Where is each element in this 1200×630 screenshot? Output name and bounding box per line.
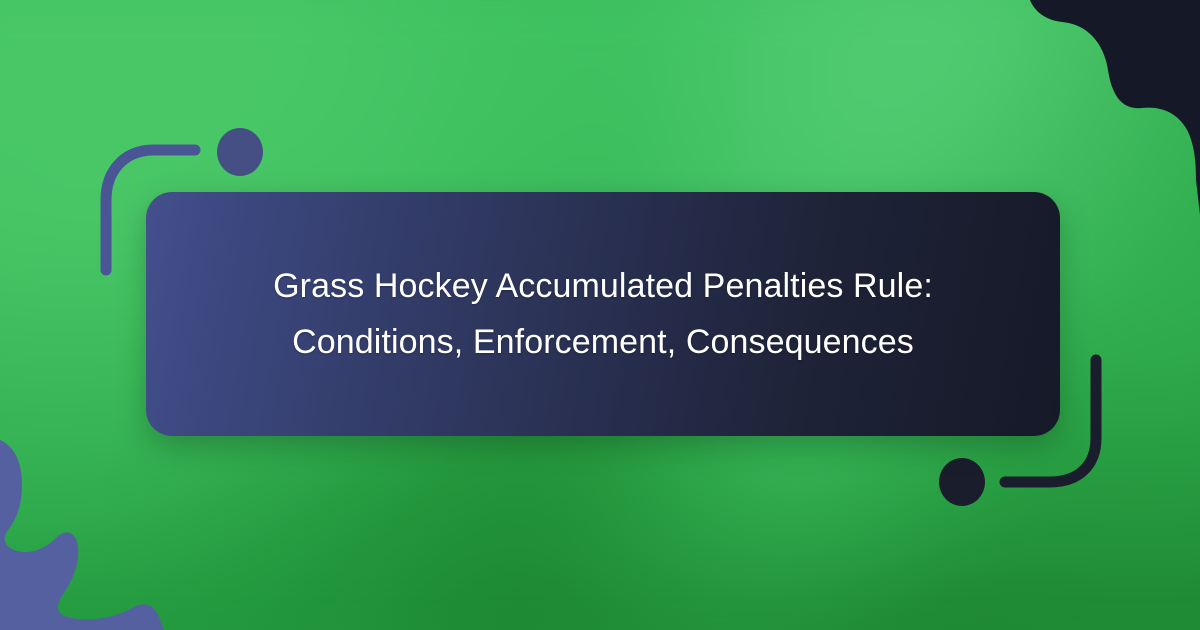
page-title-line-2: Conditions, Enforcement, Consequences: [186, 314, 1020, 370]
og-image-canvas: Grass Hockey Accumulated Penalties Rule:…: [0, 0, 1200, 630]
bottom-left-blob-decoration: [0, 440, 200, 630]
top-right-blob-decoration: [1000, 0, 1200, 215]
title-card: Grass Hockey Accumulated Penalties Rule:…: [146, 192, 1060, 436]
page-title-line-1: Grass Hockey Accumulated Penalties Rule:: [186, 258, 1020, 314]
page-title: Grass Hockey Accumulated Penalties Rule:…: [146, 258, 1060, 370]
